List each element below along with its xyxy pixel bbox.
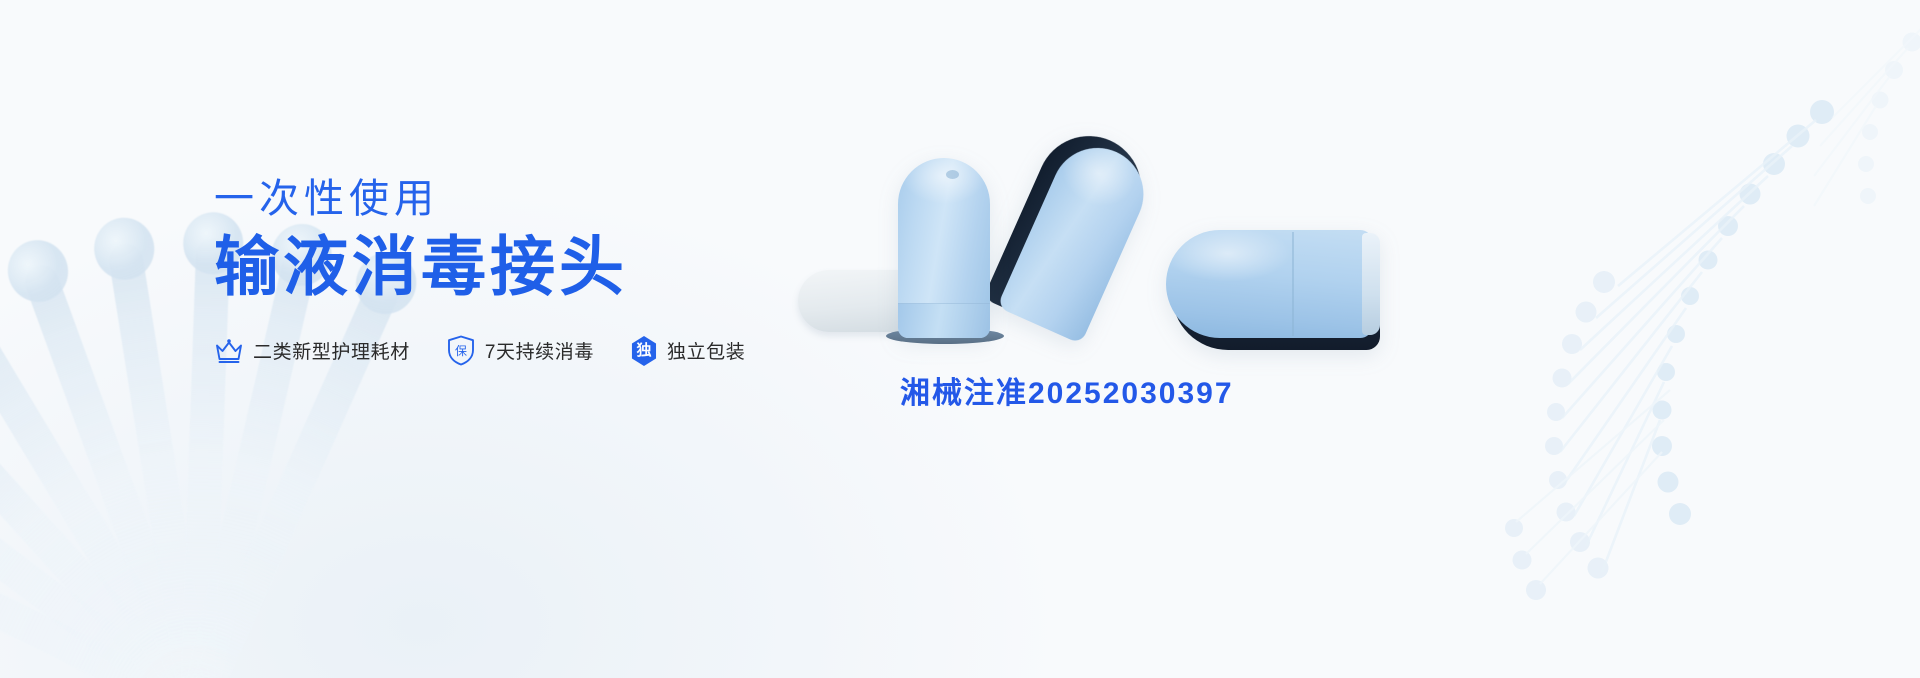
product-cap-tilted [980, 119, 1159, 344]
hexagon-icon-char: 独 [636, 343, 651, 358]
hero-eyebrow: 一次性使用 [214, 176, 914, 223]
registration-number: 湘械注准20252030397 [900, 368, 1234, 412]
feature-label: 7天持续消毒 [485, 337, 594, 364]
feature-label: 二类新型护理耗材 [253, 337, 410, 364]
feature-badge-class-two: 二类新型护理耗材 [214, 336, 410, 366]
feature-badge-list: 二类新型护理耗材 保 7天持续消毒 独 独立包装 [214, 336, 914, 366]
hero-headline: 输液消毒接头 [214, 231, 914, 304]
feature-badge-seven-day: 保 7天持续消毒 [446, 336, 594, 366]
hero-text-block: 一次性使用 输液消毒接头 二类新型护理耗材 保 [214, 176, 914, 366]
product-hero-banner: 一次性使用 输液消毒接头 二类新型护理耗材 保 [0, 0, 1920, 678]
svg-text:保: 保 [455, 344, 467, 358]
hexagon-independent-icon: 独 [630, 336, 658, 366]
product-cap-lying [1166, 230, 1380, 348]
feature-label: 独立包装 [667, 337, 745, 364]
feature-badge-independent-pack: 独 独立包装 [630, 336, 745, 366]
dna-helix-secondary-icon [1700, 0, 1920, 330]
crown-icon [214, 336, 244, 366]
dna-helix-icon [1390, 90, 1910, 650]
shield-guarantee-icon: 保 [446, 336, 476, 366]
